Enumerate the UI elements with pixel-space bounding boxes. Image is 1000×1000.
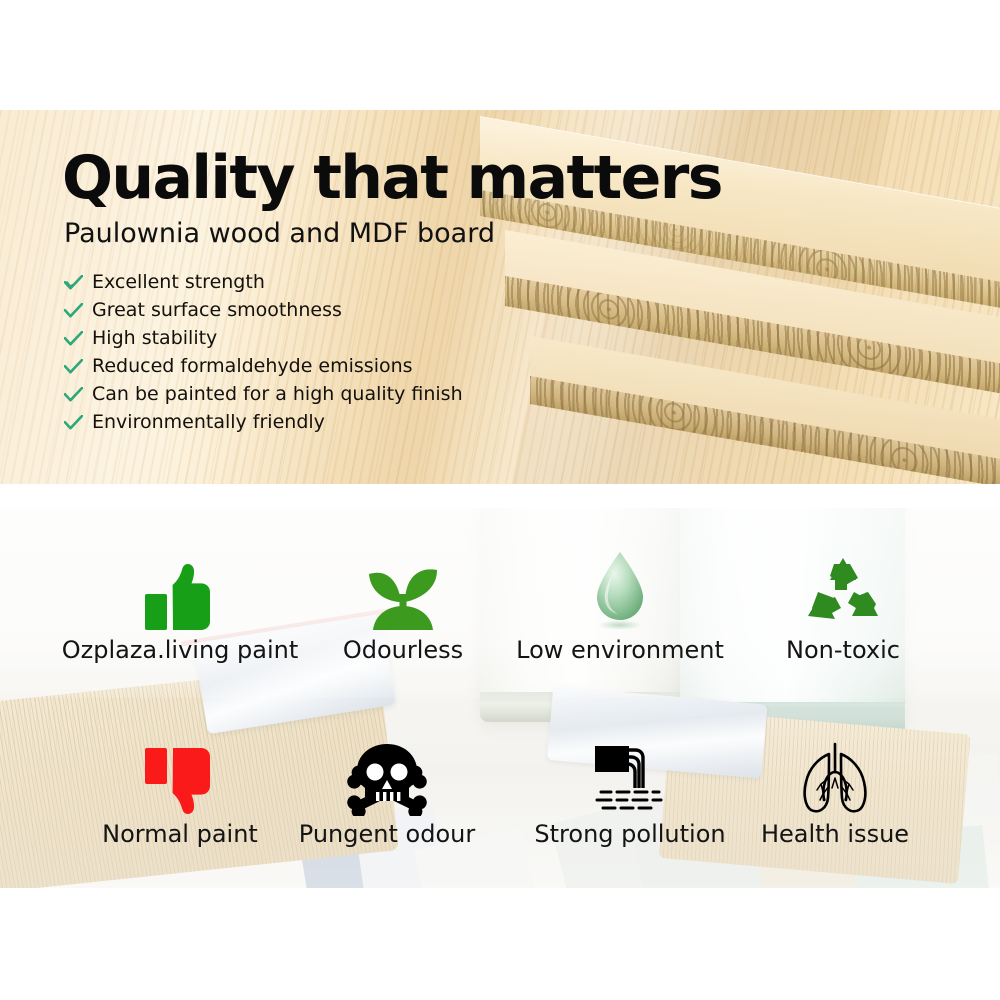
list-item-label: Great surface smoothness [92,301,342,320]
check-icon [64,387,83,402]
sprout-icon [278,546,528,632]
list-item: Can be painted for a high quality finish [64,385,722,404]
check-icon [64,415,83,430]
grid-cell-label: Health issue [710,822,960,846]
list-item: Reduced formaldehyde emissions [64,357,722,376]
check-icon [64,359,83,374]
check-icon [64,275,83,290]
grid-cell-label: Pungent odour [262,822,512,846]
grid-cell-label: Low environment [495,638,745,662]
headline-block: Quality that matters Paulownia wood and … [62,148,722,441]
grid-cell-odourless: Odourless [278,546,528,662]
list-item: High stability [64,329,722,348]
check-icon [64,331,83,346]
grid-cell-non-toxic: Non-toxic [718,546,968,662]
thumbs-up-icon [55,546,305,632]
skull-crossbones-icon [262,730,512,816]
grid-cell-label: Non-toxic [718,638,968,662]
list-item-label: Reduced formaldehyde emissions [92,357,413,376]
list-item: Great surface smoothness [64,301,722,320]
list-item: Environmentally friendly [64,413,722,432]
recycle-icon [718,546,968,632]
comparison-grid: Ozplaza.living paint Odourless [0,508,1000,888]
grid-cell-low-environment: Low environment [495,546,745,662]
list-item-label: Can be painted for a high quality finish [92,385,463,404]
grid-cell-ozplaza-paint: Ozplaza.living paint [55,546,305,662]
list-item-label: High stability [92,329,217,348]
list-item-label: Environmentally friendly [92,413,325,432]
paint-comparison-panel: Ozplaza.living paint Odourless [0,508,1000,888]
grid-cell-health-issue: Health issue [710,730,960,846]
quality-panel: Quality that matters Paulownia wood and … [0,110,1000,484]
list-item: Excellent strength [64,273,722,292]
feature-list: Excellent strength Great surface smoothn… [64,273,722,432]
list-item-label: Excellent strength [92,273,265,292]
lungs-icon [710,730,960,816]
grid-cell-label: Odourless [278,638,528,662]
page-title: Quality that matters [62,148,722,208]
grid-cell-pungent-odour: Pungent odour [262,730,512,846]
water-drop-icon [495,546,745,632]
grid-cell-label: Ozplaza.living paint [55,638,305,662]
check-icon [64,303,83,318]
page-subtitle: Paulownia wood and MDF board [64,220,722,247]
